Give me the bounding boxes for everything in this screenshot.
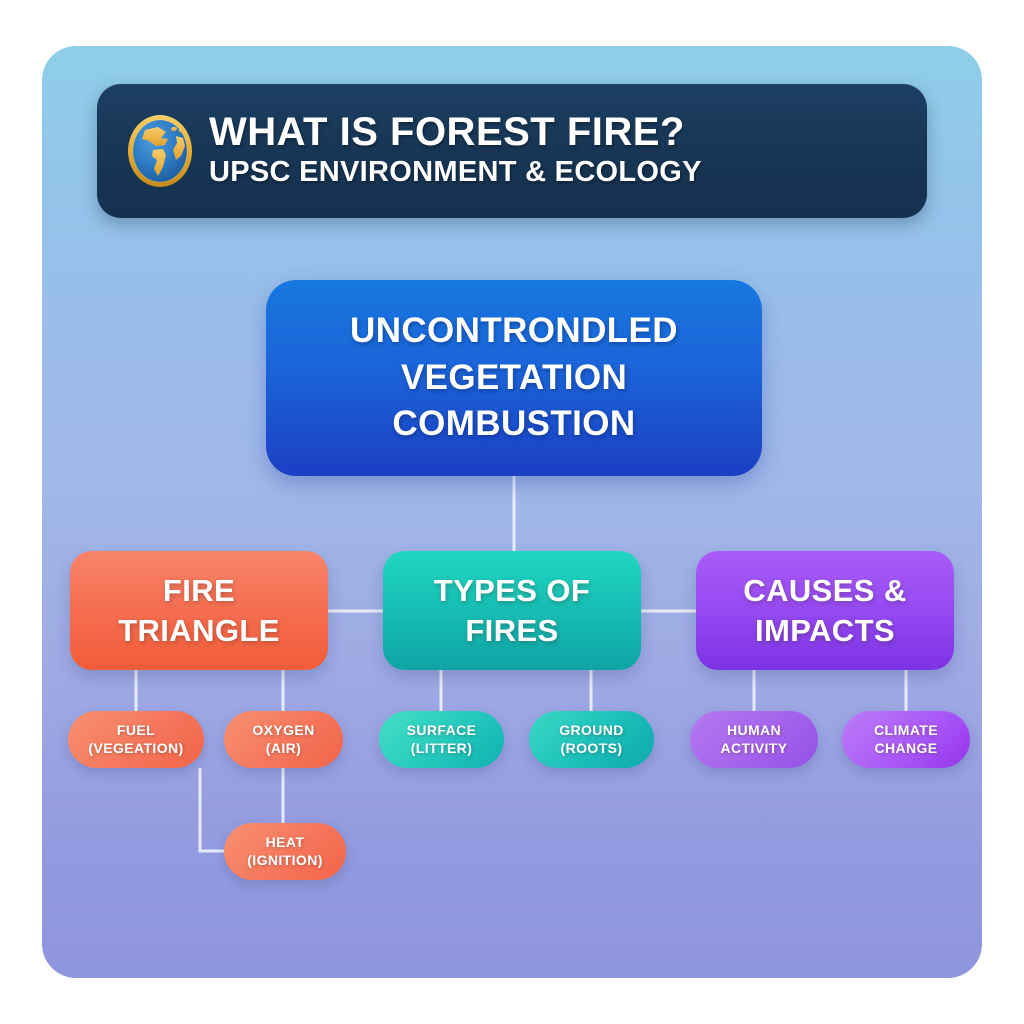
leaf-pill-ground[interactable]: GROUND (ROOTS) — [529, 711, 654, 768]
leaf-label-oxygen: OXYGEN (AIR) — [234, 722, 333, 758]
leaf-label-fuel: FUEL (VEGEATION) — [78, 722, 194, 758]
poster-card: WHAT IS FOREST FIRE? UPSC ENVIRONMENT & … — [42, 46, 982, 978]
leaf-label-heat: HEAT (IGNITION) — [234, 834, 336, 870]
leaf-label-ground: GROUND (ROOTS) — [539, 722, 644, 758]
header-banner: WHAT IS FOREST FIRE? UPSC ENVIRONMENT & … — [97, 84, 927, 218]
header-text-block: WHAT IS FOREST FIRE? UPSC ENVIRONMENT & … — [209, 111, 702, 189]
leaf-pill-fuel[interactable]: FUEL (VEGEATION) — [68, 711, 204, 768]
leaf-label-surface: SURFACE (LITTER) — [389, 722, 494, 758]
root-definition-label: UNCONTRONDLED VEGETATION COMBUSTION — [292, 308, 736, 449]
page-subtitle: UPSC ENVIRONMENT & ECOLOGY — [209, 157, 702, 189]
leaf-pill-oxygen[interactable]: OXYGEN (AIR) — [224, 711, 343, 768]
leaf-pill-human-activity[interactable]: HUMAN ACTIVITY — [690, 711, 818, 768]
branch-box-causes-and-impacts[interactable]: CAUSES & IMPACTS — [696, 551, 954, 670]
leaf-label-climate-change: CLIMATE CHANGE — [852, 722, 960, 758]
leaf-label-human-activity: HUMAN ACTIVITY — [700, 722, 808, 758]
globe-icon — [125, 112, 195, 190]
branch-label-fire-triangle: FIRE TRIANGLE — [84, 571, 314, 650]
root-definition-box[interactable]: UNCONTRONDLED VEGETATION COMBUSTION — [266, 280, 762, 476]
branch-label-types-of-fires: TYPES OF FIRES — [397, 571, 627, 650]
branch-box-fire-triangle[interactable]: FIRE TRIANGLE — [70, 551, 328, 670]
infographic-canvas: WHAT IS FOREST FIRE? UPSC ENVIRONMENT & … — [0, 0, 1024, 1024]
branch-label-causes-and-impacts: CAUSES & IMPACTS — [710, 571, 940, 650]
branch-box-types-of-fires[interactable]: TYPES OF FIRES — [383, 551, 641, 670]
leaf-pill-climate-change[interactable]: CLIMATE CHANGE — [842, 711, 970, 768]
page-title: WHAT IS FOREST FIRE? — [209, 111, 702, 153]
leaf-pill-surface[interactable]: SURFACE (LITTER) — [379, 711, 504, 768]
leaf-pill-heat[interactable]: HEAT (IGNITION) — [224, 823, 346, 880]
